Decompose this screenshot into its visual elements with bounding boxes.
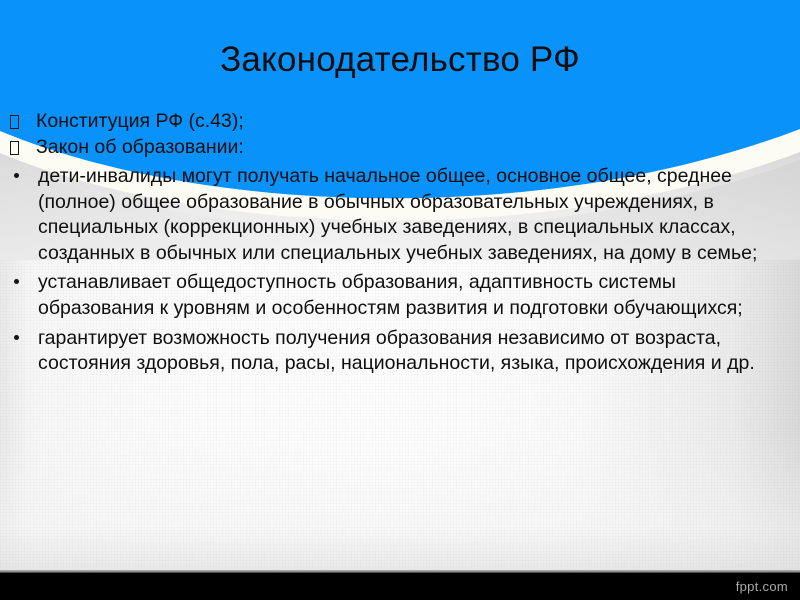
presentation-slide: Законодательство РФ Конституция РФ (с.43…: [0, 0, 800, 600]
list-item-text: устанавливает общедоступность образовани…: [38, 270, 788, 321]
list-item-text: гарантирует возможность получения образо…: [38, 326, 788, 377]
bullet-list: Конституция РФ (с.43); Закон об образова…: [0, 108, 800, 377]
list-item-text: Конституция РФ (с.43);: [36, 108, 800, 134]
list-item-text: дети-инвалиды могут получать начальное о…: [38, 164, 788, 266]
list-item: дети-инвалиды могут получать начальное о…: [0, 164, 800, 266]
round-bullet-icon: [14, 164, 19, 190]
footer-bar: fppt.com: [0, 573, 800, 600]
list-item-text: Закон об образовании:: [36, 134, 800, 160]
list-item: Конституция РФ (с.43);: [0, 108, 800, 134]
list-item: гарантирует возможность получения образо…: [0, 326, 800, 377]
list-item: устанавливает общедоступность образовани…: [0, 270, 800, 321]
missing-glyph-box-icon: [10, 108, 19, 134]
page-title: Законодательство РФ: [0, 38, 800, 82]
brand-watermark: fppt.com: [736, 579, 788, 595]
round-bullet-icon: [14, 326, 19, 352]
round-bullet-icon: [14, 270, 19, 296]
missing-glyph-box-icon: [10, 134, 19, 160]
list-item: Закон об образовании:: [0, 134, 800, 160]
